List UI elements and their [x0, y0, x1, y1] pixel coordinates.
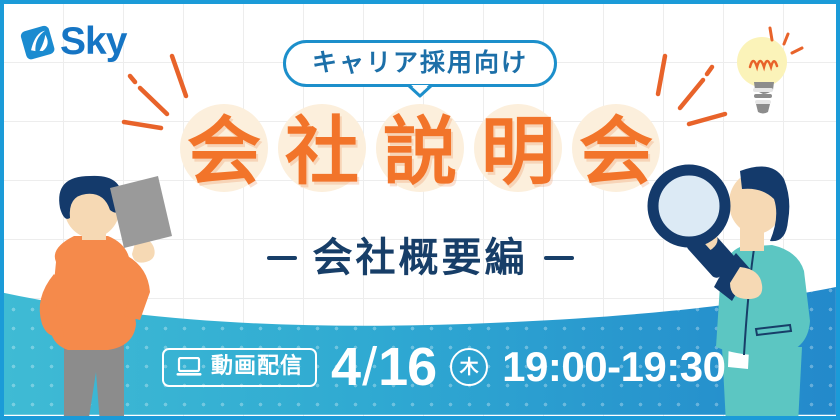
- badge-container: キャリア採用向け: [283, 40, 557, 87]
- event-date: 4 / 16: [331, 340, 436, 394]
- recruitment-seminar-banner: Sky キャリア採用向け 会 社 説 明 会 会社概要編 動画配信 4: [0, 0, 840, 420]
- event-day: 16: [378, 340, 436, 394]
- title-char-1: 会: [176, 104, 272, 200]
- title-char-5-text: 会: [579, 115, 653, 189]
- page-title: 会 社 説 明 会: [4, 104, 836, 200]
- title-char-4-text: 明: [481, 115, 555, 189]
- title-char-4: 明: [470, 104, 566, 200]
- subtitle-dash-right: [544, 256, 574, 260]
- title-char-2-text: 社: [285, 115, 359, 189]
- date-separator: /: [360, 340, 378, 394]
- page-subtitle: 会社概要編: [4, 236, 836, 280]
- target-audience-badge: キャリア採用向け: [283, 40, 557, 87]
- schedule-info: 動画配信 4 / 16 木 19:00-19:30: [162, 340, 725, 394]
- title-char-3-text: 説: [383, 115, 457, 189]
- delivery-format-chip: 動画配信: [162, 348, 317, 387]
- laptop-icon: [176, 357, 202, 377]
- sky-logo[interactable]: Sky: [20, 22, 126, 61]
- subtitle-text: 会社概要編: [313, 236, 528, 280]
- title-char-2: 社: [274, 104, 370, 200]
- title-char-3: 説: [372, 104, 468, 200]
- day-of-week-badge: 木: [450, 348, 488, 386]
- event-month: 4: [331, 340, 360, 394]
- event-time: 19:00-19:30: [502, 346, 725, 388]
- logo-text: Sky: [60, 22, 126, 61]
- subtitle-dash-left: [267, 256, 297, 260]
- lightbulb-icon: [722, 22, 814, 117]
- sky-diamond-logo-icon: [20, 24, 56, 60]
- badge-tail-icon: [407, 85, 433, 99]
- title-char-5: 会: [568, 104, 664, 200]
- title-char-1-text: 会: [187, 115, 261, 189]
- delivery-format-label: 動画配信: [211, 356, 303, 378]
